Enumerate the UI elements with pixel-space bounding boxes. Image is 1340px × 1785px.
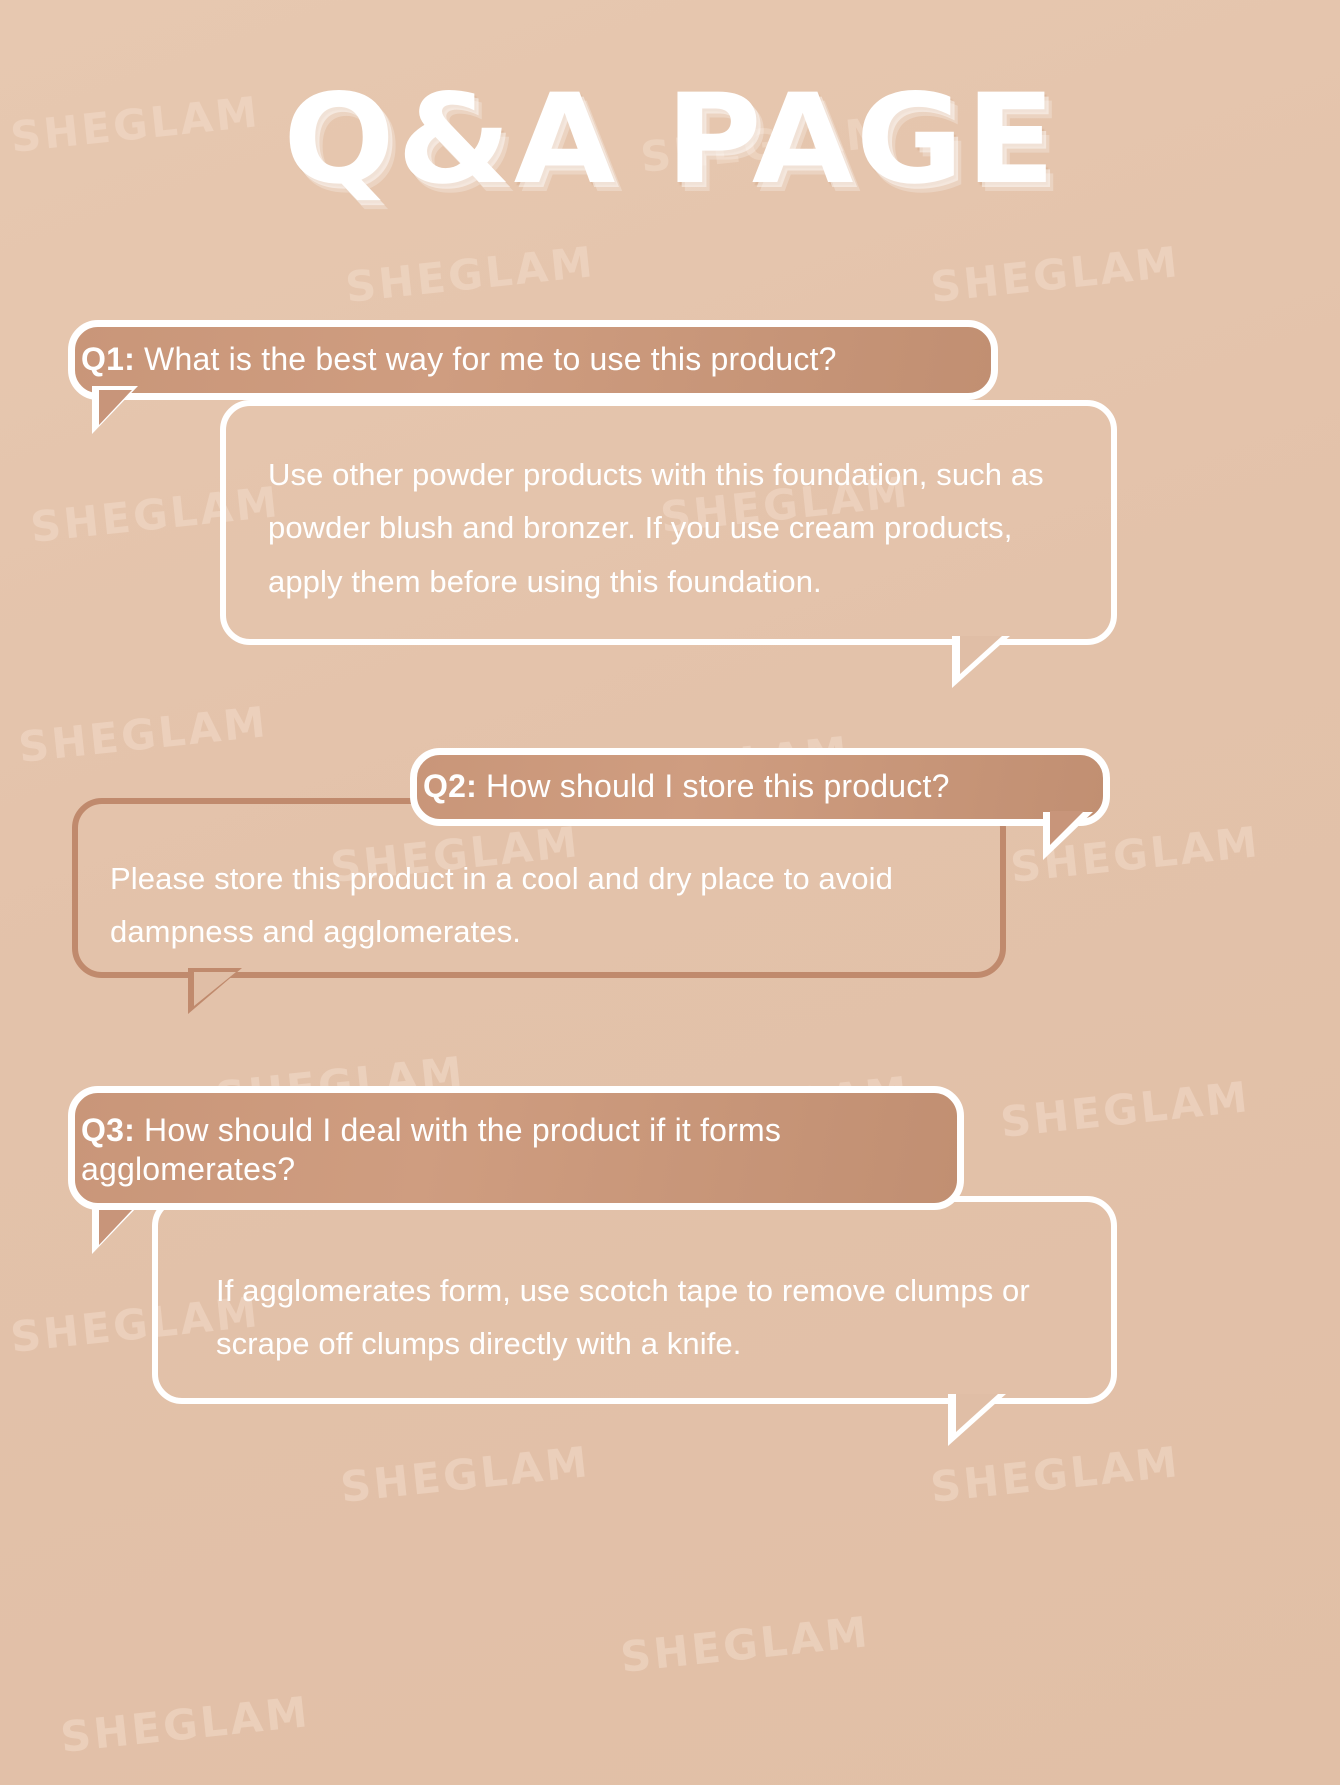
question-bubble-q1: Q1: What is the best way for me to use t…	[68, 320, 998, 400]
page-title: Q&A PAGE	[283, 78, 1057, 202]
watermark-text: SHEGLAM	[618, 1607, 872, 1682]
answer-text-q2: Please store this product in a cool and …	[110, 852, 960, 959]
question-number-q1: Q1:	[81, 341, 135, 377]
question-label-q1: What is the best way for me to use this …	[144, 341, 837, 377]
question-text-q3: Q3: How should I deal with the product i…	[75, 1111, 957, 1189]
question-bubble-q2: Q2: How should I store this product?	[410, 748, 1110, 826]
qa-page-root: SHEGLAMSHEGLAMSHEGLAMSHEGLAMSHEGLAMSHEGL…	[0, 0, 1340, 1785]
answer-bubble-q1: Use other powder products with this foun…	[220, 400, 1117, 645]
answer-bubble-q3: If agglomerates form, use scotch tape to…	[152, 1196, 1117, 1404]
watermark-text: SHEGLAM	[338, 1437, 592, 1512]
watermark-text: SHEGLAM	[998, 1072, 1252, 1147]
question-number-q2: Q2:	[423, 768, 477, 804]
answer-tail-q3	[948, 1394, 1006, 1446]
question-text-q1: Q1: What is the best way for me to use t…	[75, 340, 843, 379]
watermark-text: SHEGLAM	[928, 237, 1182, 312]
question-tail-q3	[92, 1206, 138, 1254]
question-bubble-q3: Q3: How should I deal with the product i…	[68, 1086, 964, 1210]
watermark-text: SHEGLAM	[343, 237, 597, 312]
question-label-q3: How should I deal with the product if it…	[81, 1112, 781, 1187]
watermark-text: SHEGLAM	[928, 1437, 1182, 1512]
question-number-q3: Q3:	[81, 1112, 135, 1148]
answer-tail-q1	[952, 636, 1010, 688]
question-tail-q2	[1043, 812, 1093, 860]
answer-text-q3: If agglomerates form, use scotch tape to…	[216, 1264, 1063, 1371]
answer-tail-q2	[188, 968, 242, 1014]
page-title-wrap: Q&A PAGE	[0, 78, 1340, 202]
question-text-q2: Q2: How should I store this product?	[417, 767, 956, 806]
watermark-text: SHEGLAM	[58, 1687, 312, 1762]
question-label-q2: How should I store this product?	[486, 768, 950, 804]
answer-text-q1: Use other powder products with this foun…	[268, 448, 1065, 608]
question-tail-q1	[92, 386, 138, 434]
watermark-text: SHEGLAM	[16, 697, 270, 772]
